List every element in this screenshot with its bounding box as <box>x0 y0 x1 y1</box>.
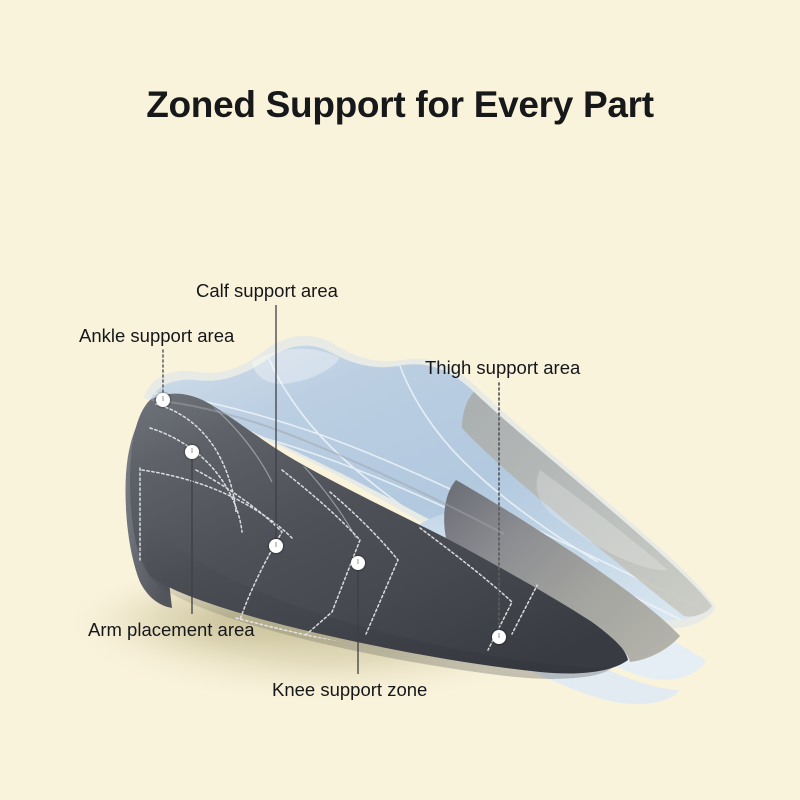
product-diagram-stage: Zoned Support for Every Part <box>0 0 800 800</box>
callout-label-ankle: Ankle support area <box>79 325 234 347</box>
callout-label-thigh: Thigh support area <box>425 357 580 379</box>
callout-label-arm: Arm placement area <box>88 619 255 641</box>
callout-label-knee: Knee support zone <box>272 679 427 701</box>
callout-label-calf: Calf support area <box>196 280 338 302</box>
